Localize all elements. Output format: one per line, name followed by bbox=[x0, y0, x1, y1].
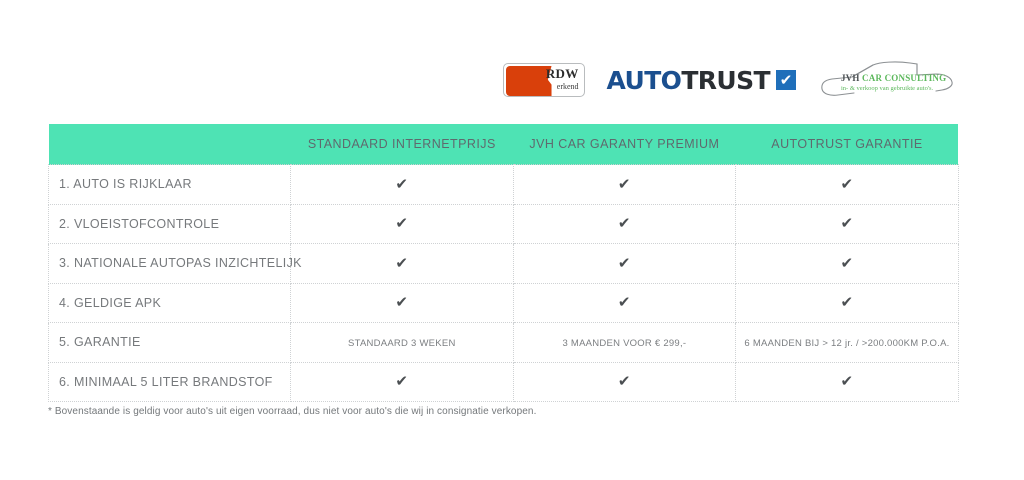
check-icon: ✔ bbox=[395, 295, 408, 310]
check-icon: ✔ bbox=[841, 374, 854, 389]
cell-autotrust-text: 6 MAANDEN BIJ > 12 jr. / >200.000KM P.O.… bbox=[744, 338, 949, 349]
check-icon: ✔ bbox=[841, 256, 854, 271]
cell-standaard-text: STANDAARD 3 WEKEN bbox=[348, 338, 456, 349]
check-icon: ✔ bbox=[395, 216, 408, 231]
check-icon: ✔ bbox=[618, 295, 631, 310]
row-feature-label: 5. GARANTIE bbox=[49, 323, 291, 363]
rdw-logo-text: RDW erkend bbox=[546, 67, 579, 91]
check-icon: ✔ bbox=[395, 374, 408, 389]
jvh-car-consulting-logo: JVH CAR CONSULTING in- & verkoop van geb… bbox=[818, 57, 958, 103]
comparison-table-wrapper: STANDAARD INTERNETPRIJS JVH CAR GARANTY … bbox=[48, 124, 958, 402]
row-feature-label: 4. GELDIGE APK bbox=[49, 283, 291, 323]
cell-autotrust: ✔ bbox=[736, 283, 959, 323]
column-header-feature bbox=[49, 124, 291, 165]
cell-jvh: ✔ bbox=[513, 244, 736, 284]
cell-standaard: ✔ bbox=[291, 204, 514, 244]
rdw-logo-title: RDW bbox=[546, 67, 579, 80]
logo-strip: RDW erkend AUTOTRUST ✔ JVH CAR CONSULTIN… bbox=[48, 50, 958, 110]
rdw-logo-subtitle: erkend bbox=[546, 83, 579, 91]
check-icon: ✔ bbox=[841, 295, 854, 310]
jvh-logo-title: JVH CAR CONSULTING bbox=[841, 73, 946, 83]
table-row: 2. VLOEISTOFCONTROLE ✔ ✔ ✔ bbox=[49, 204, 959, 244]
table-row: 5. GARANTIE STANDAARD 3 WEKEN 3 MAANDEN … bbox=[49, 323, 959, 363]
checkbox-icon: ✔ bbox=[776, 70, 796, 90]
rdw-swoosh-icon bbox=[506, 66, 552, 96]
row-feature-label: 1. AUTO IS RIJKLAAR bbox=[49, 165, 291, 205]
cell-autotrust: ✔ bbox=[736, 165, 959, 205]
column-header-jvh-car-garanty-premium: JVH CAR GARANTY PREMIUM bbox=[513, 124, 736, 165]
rdw-logo: RDW erkend bbox=[503, 63, 585, 97]
cell-jvh-text: 3 MAANDEN VOOR € 299,- bbox=[563, 338, 687, 349]
cell-standaard: STANDAARD 3 WEKEN bbox=[291, 323, 514, 363]
check-icon: ✔ bbox=[841, 177, 854, 192]
table-body: 1. AUTO IS RIJKLAAR ✔ ✔ ✔ 2. VLOEISTOFCO… bbox=[49, 165, 959, 402]
column-header-standaard-internetprijs: STANDAARD INTERNETPRIJS bbox=[291, 124, 514, 165]
cell-jvh: ✔ bbox=[513, 362, 736, 402]
row-feature-label: 6. MINIMAAL 5 LITER BRANDSTOF bbox=[49, 362, 291, 402]
cell-jvh: 3 MAANDEN VOOR € 299,- bbox=[513, 323, 736, 363]
autotrust-wordmark-part1: AUTO bbox=[607, 66, 682, 95]
cell-jvh: ✔ bbox=[513, 204, 736, 244]
cell-standaard: ✔ bbox=[291, 283, 514, 323]
row-feature-label: 2. VLOEISTOFCONTROLE bbox=[49, 204, 291, 244]
check-icon: ✔ bbox=[395, 256, 408, 271]
check-icon: ✔ bbox=[618, 256, 631, 271]
check-icon: ✔ bbox=[618, 216, 631, 231]
warranty-comparison-table: STANDAARD INTERNETPRIJS JVH CAR GARANTY … bbox=[48, 124, 959, 402]
cell-autotrust: 6 MAANDEN BIJ > 12 jr. / >200.000KM P.O.… bbox=[736, 323, 959, 363]
jvh-logo-tagline: in- & verkoop van gebruikte auto's. bbox=[841, 85, 946, 92]
check-icon: ✔ bbox=[618, 177, 631, 192]
cell-jvh: ✔ bbox=[513, 283, 736, 323]
check-icon: ✔ bbox=[395, 177, 408, 192]
jvh-logo-mark: JVH bbox=[841, 73, 860, 83]
cell-autotrust: ✔ bbox=[736, 204, 959, 244]
cell-jvh: ✔ bbox=[513, 165, 736, 205]
footnote-text: * Bovenstaande is geldig voor auto's uit… bbox=[48, 406, 536, 417]
autotrust-logo: AUTOTRUST ✔ bbox=[607, 68, 796, 93]
table-header: STANDAARD INTERNETPRIJS JVH CAR GARANTY … bbox=[49, 124, 959, 165]
check-icon: ✔ bbox=[618, 374, 631, 389]
table-row: 1. AUTO IS RIJKLAAR ✔ ✔ ✔ bbox=[49, 165, 959, 205]
cell-standaard: ✔ bbox=[291, 362, 514, 402]
jvh-logo-text: JVH CAR CONSULTING in- & verkoop van geb… bbox=[841, 73, 946, 93]
table-header-row: STANDAARD INTERNETPRIJS JVH CAR GARANTY … bbox=[49, 124, 959, 165]
check-icon: ✔ bbox=[841, 216, 854, 231]
table-row: 4. GELDIGE APK ✔ ✔ ✔ bbox=[49, 283, 959, 323]
cell-autotrust: ✔ bbox=[736, 244, 959, 284]
cell-autotrust: ✔ bbox=[736, 362, 959, 402]
table-row: 3. NATIONALE AUTOPAS INZICHTELIJK ✔ ✔ ✔ bbox=[49, 244, 959, 284]
cell-standaard: ✔ bbox=[291, 244, 514, 284]
row-feature-label: 3. NATIONALE AUTOPAS INZICHTELIJK bbox=[49, 244, 291, 284]
column-header-autotrust-garantie: AUTOTRUST GARANTIE bbox=[736, 124, 959, 165]
cell-standaard: ✔ bbox=[291, 165, 514, 205]
jvh-logo-title-rest: CAR CONSULTING bbox=[860, 73, 947, 83]
table-row: 6. MINIMAAL 5 LITER BRANDSTOF ✔ ✔ ✔ bbox=[49, 362, 959, 402]
autotrust-wordmark-part2: TRUST bbox=[681, 66, 770, 95]
autotrust-wordmark: AUTOTRUST bbox=[607, 68, 770, 93]
